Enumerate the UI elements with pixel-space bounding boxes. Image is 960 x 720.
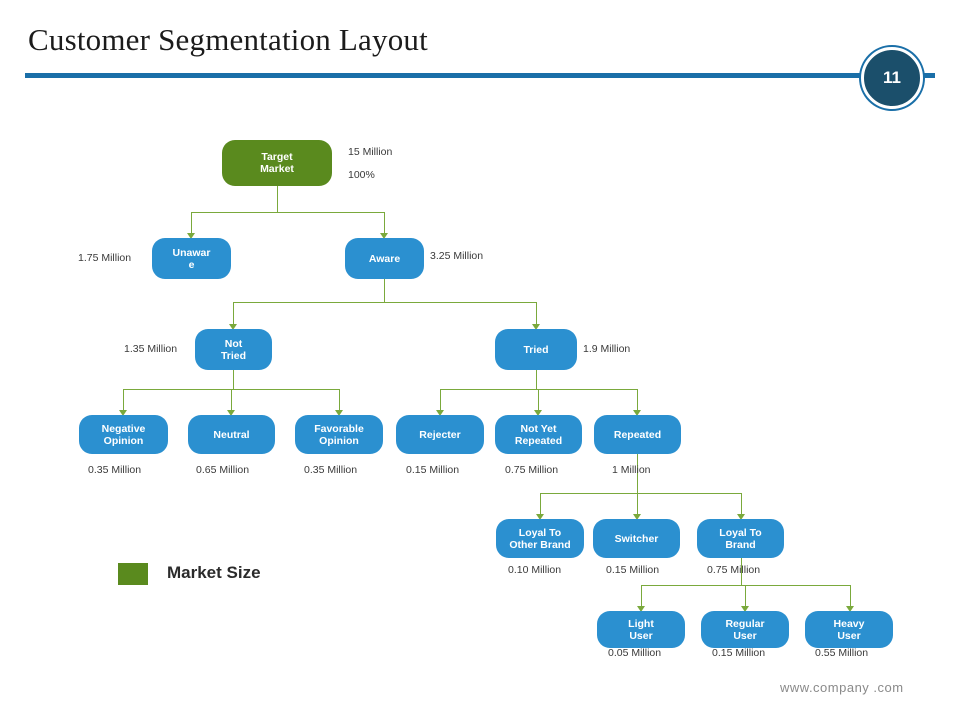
value-tried: 1.9 Million: [583, 343, 630, 355]
connector: [637, 389, 638, 411]
value-neutral: 0.65 Million: [196, 464, 249, 476]
connector: [384, 279, 385, 302]
node-rejecter[interactable]: Rejecter: [396, 415, 484, 454]
value-light-user: 0.05 Million: [608, 647, 661, 659]
node-unaware[interactable]: Unawar e: [152, 238, 231, 279]
value-not-yet-repeated: 0.75 Million: [505, 464, 558, 476]
node-aware[interactable]: Aware: [345, 238, 424, 279]
connector: [745, 585, 746, 607]
slide-number-badge: 11: [861, 47, 923, 109]
legend-label: Market Size: [167, 563, 261, 583]
value-rejecter: 0.15 Million: [406, 464, 459, 476]
connector: [233, 302, 234, 325]
node-neutral[interactable]: Neutral: [188, 415, 275, 454]
connector: [538, 389, 539, 411]
connector: [540, 493, 741, 494]
node-repeated[interactable]: Repeated: [594, 415, 681, 454]
node-loyal-to-brand[interactable]: Loyal To Brand: [697, 519, 784, 558]
connector: [191, 212, 192, 234]
connector: [637, 493, 638, 515]
value-not-tried: 1.35 Million: [124, 343, 177, 355]
connector: [123, 389, 124, 411]
node-target-market[interactable]: Target Market: [222, 140, 332, 186]
node-not-tried[interactable]: Not Tried: [195, 329, 272, 370]
node-light-user[interactable]: Light User: [597, 611, 685, 648]
connector: [233, 302, 536, 303]
node-favorable-opinion[interactable]: Favorable Opinion: [295, 415, 383, 454]
page-title: Customer Segmentation Layout: [28, 22, 428, 58]
node-not-yet-repeated[interactable]: Not Yet Repeated: [495, 415, 582, 454]
connector: [440, 389, 441, 411]
connector: [339, 389, 340, 411]
connector: [540, 493, 541, 515]
value-loyal-to-other-brand: 0.10 Million: [508, 564, 561, 576]
connector: [191, 212, 384, 213]
value-aware: 3.25 Million: [430, 250, 483, 262]
slide-canvas: Customer Segmentation Layout 11: [0, 0, 960, 720]
value-unaware: 1.75 Million: [78, 252, 131, 264]
value-switcher: 0.15 Million: [606, 564, 659, 576]
footer-url: www.company .com: [780, 680, 904, 695]
value-target-market-pct: 100%: [348, 169, 375, 181]
connector: [384, 212, 385, 234]
node-negative-opinion[interactable]: Negative Opinion: [79, 415, 168, 454]
connector: [536, 370, 537, 389]
connector: [850, 585, 851, 607]
value-heavy-user: 0.55 Million: [815, 647, 868, 659]
node-switcher[interactable]: Switcher: [593, 519, 680, 558]
value-repeated: 1 Million: [612, 464, 651, 476]
connector: [233, 370, 234, 389]
legend-color-swatch: [118, 563, 148, 585]
connector: [641, 585, 851, 586]
node-heavy-user[interactable]: Heavy User: [805, 611, 893, 648]
value-regular-user: 0.15 Million: [712, 647, 765, 659]
value-favorable-opinion: 0.35 Million: [304, 464, 357, 476]
node-tried[interactable]: Tried: [495, 329, 577, 370]
node-regular-user[interactable]: Regular User: [701, 611, 789, 648]
node-loyal-to-other-brand[interactable]: Loyal To Other Brand: [496, 519, 584, 558]
value-loyal-to-brand: 0.75 Million: [707, 564, 760, 576]
connector: [741, 493, 742, 515]
connector: [641, 585, 642, 607]
header-divider: [25, 73, 935, 78]
value-negative-opinion: 0.35 Million: [88, 464, 141, 476]
value-target-market-size: 15 Million: [348, 146, 392, 158]
connector: [277, 186, 278, 212]
connector: [536, 302, 537, 325]
connector: [231, 389, 232, 411]
